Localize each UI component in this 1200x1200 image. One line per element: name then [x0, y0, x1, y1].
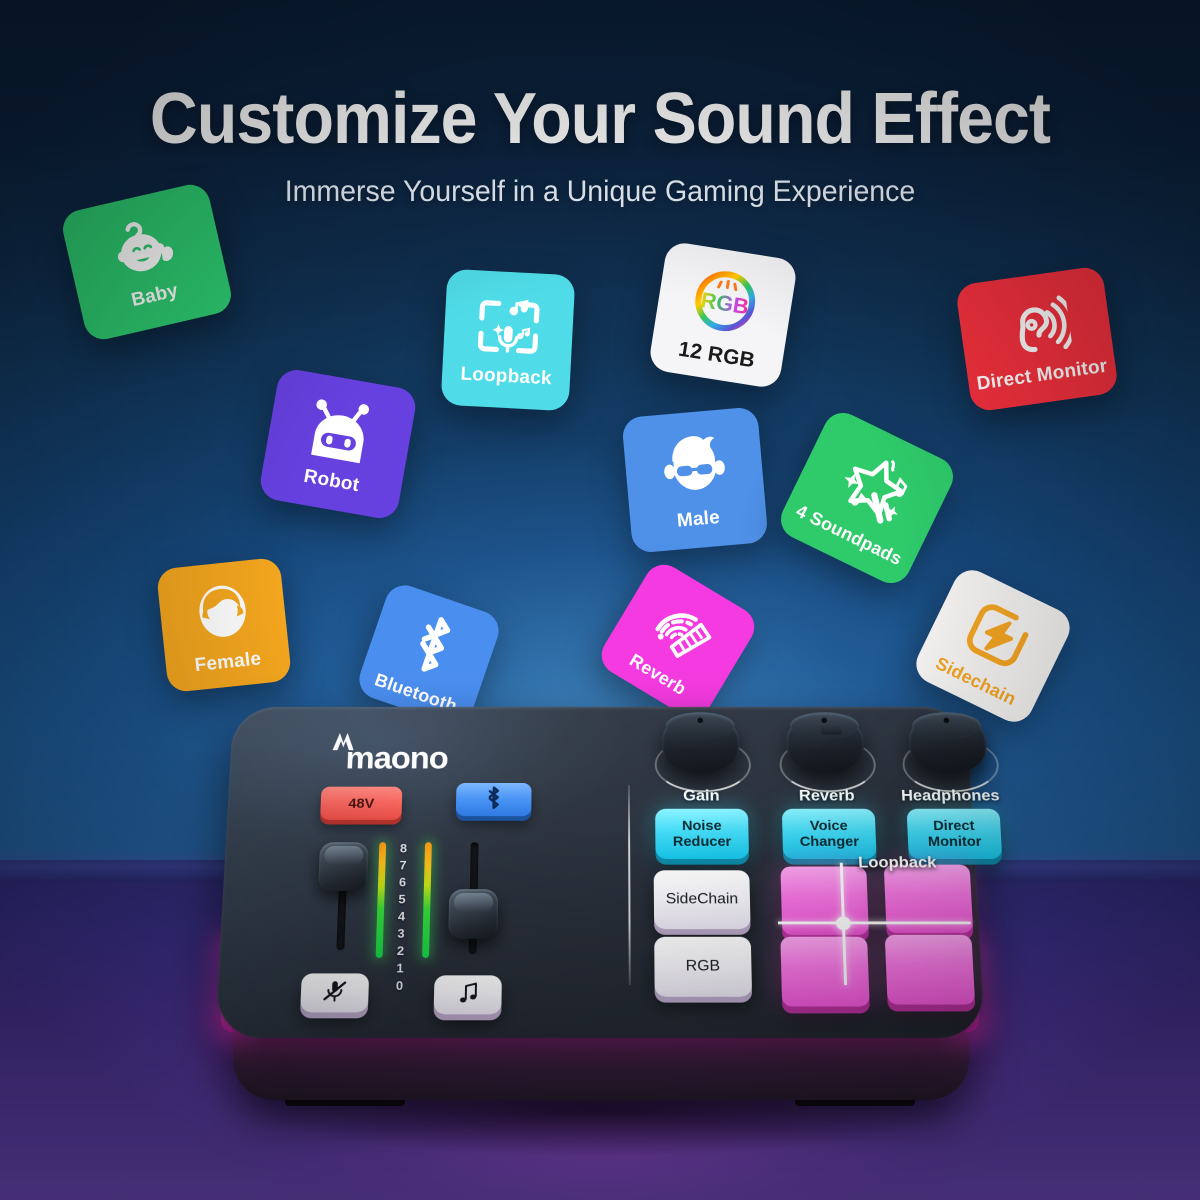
vignette — [0, 0, 1200, 1200]
product-marketing-image: Customize Your Sound Effect Immerse Your… — [0, 0, 1200, 1200]
